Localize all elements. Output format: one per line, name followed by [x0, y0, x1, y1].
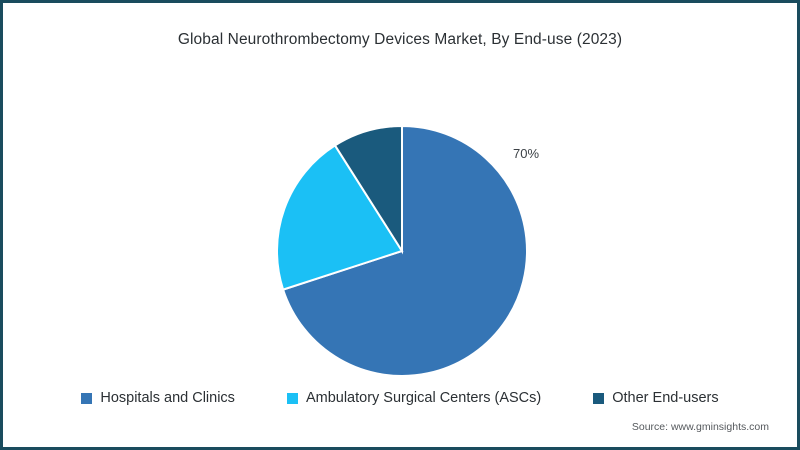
legend-item-other-end-users[interactable]: Other End-users [593, 390, 718, 406]
legend-swatch-icon [81, 393, 92, 404]
legend-item-hospitals-and-clinics[interactable]: Hospitals and Clinics [81, 390, 235, 406]
legend-swatch-icon [593, 393, 604, 404]
chart-legend: Hospitals and Clinics Ambulatory Surgica… [3, 387, 797, 409]
source-attribution: Source: www.gminsights.com [632, 421, 769, 433]
legend-swatch-icon [287, 393, 298, 404]
chart-figure: Global Neurothrombectomy Devices Market,… [0, 0, 800, 450]
pie-chart-svg [271, 120, 533, 382]
legend-label: Hospitals and Clinics [100, 390, 235, 406]
pie-slice-other-end-users[interactable] [335, 126, 402, 251]
legend-label: Ambulatory Surgical Centers (ASCs) [306, 390, 541, 406]
legend-label: Other End-users [612, 390, 718, 406]
page-title: Global Neurothrombectomy Devices Market,… [3, 31, 797, 49]
pie-slice-hospitals-and-clinics[interactable] [283, 126, 527, 376]
pie-chart-plot-area: 70% [3, 3, 797, 447]
pie-slice-ambulatory-surgical-centers[interactable] [277, 145, 402, 289]
legend-item-ambulatory-surgical-centers[interactable]: Ambulatory Surgical Centers (ASCs) [287, 390, 541, 406]
pie-data-label-70-percent: 70% [513, 146, 539, 161]
